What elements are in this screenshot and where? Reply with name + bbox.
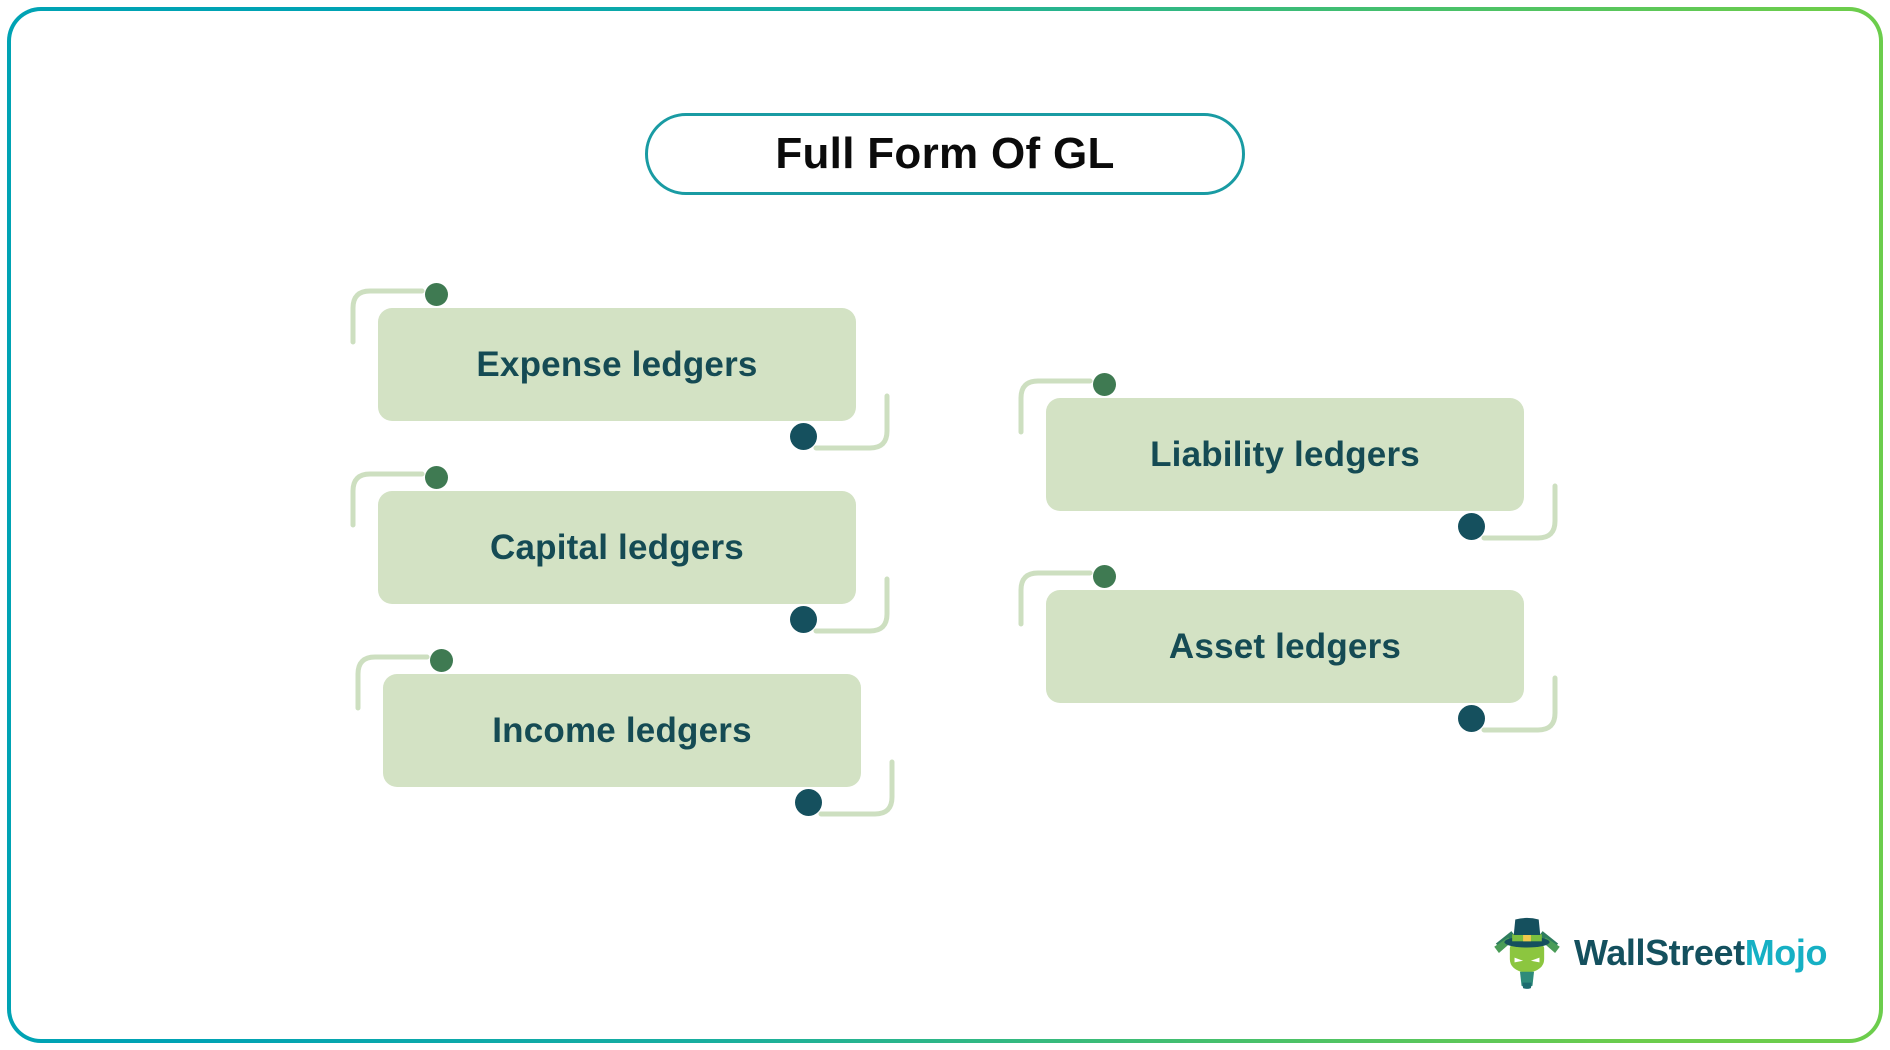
card-group-asset: Asset ledgers <box>1018 557 1558 747</box>
card-group-income: Income ledgers <box>355 641 895 831</box>
wallstreetmojo-logo: WallStreetMojo <box>1488 914 1808 992</box>
marker-dot-green <box>425 466 448 489</box>
bull-mascot-icon <box>1488 914 1566 992</box>
marker-dot-green <box>425 283 448 306</box>
card-label: Income ledgers <box>492 711 752 751</box>
card-group-capital: Capital ledgers <box>350 458 890 648</box>
page-title-pill: Full Form Of GL <box>645 113 1245 195</box>
card-label: Asset ledgers <box>1169 627 1401 667</box>
card-capital[interactable]: Capital ledgers <box>378 491 856 604</box>
logo-text-mojo: Mojo <box>1745 932 1827 973</box>
card-label: Expense ledgers <box>476 345 757 385</box>
page-title: Full Form Of GL <box>775 129 1114 179</box>
card-group-expense: Expense ledgers <box>350 275 890 465</box>
card-label: Liability ledgers <box>1150 435 1420 475</box>
card-expense[interactable]: Expense ledgers <box>378 308 856 421</box>
marker-dot-teal <box>1458 513 1485 540</box>
infographic-canvas: Full Form Of GL Expense ledgers Capital … <box>0 0 1890 1050</box>
card-label: Capital ledgers <box>490 528 744 568</box>
card-income[interactable]: Income ledgers <box>383 674 861 787</box>
marker-dot-teal <box>795 789 822 816</box>
marker-dot-green <box>1093 373 1116 396</box>
marker-dot-green <box>1093 565 1116 588</box>
marker-dot-green <box>430 649 453 672</box>
logo-wordmark: WallStreetMojo <box>1574 932 1827 974</box>
card-liability[interactable]: Liability ledgers <box>1046 398 1524 511</box>
card-asset[interactable]: Asset ledgers <box>1046 590 1524 703</box>
marker-dot-teal <box>790 423 817 450</box>
marker-dot-teal <box>1458 705 1485 732</box>
card-group-liability: Liability ledgers <box>1018 365 1558 555</box>
logo-text-wallstreet: WallStreet <box>1574 932 1745 973</box>
marker-dot-teal <box>790 606 817 633</box>
